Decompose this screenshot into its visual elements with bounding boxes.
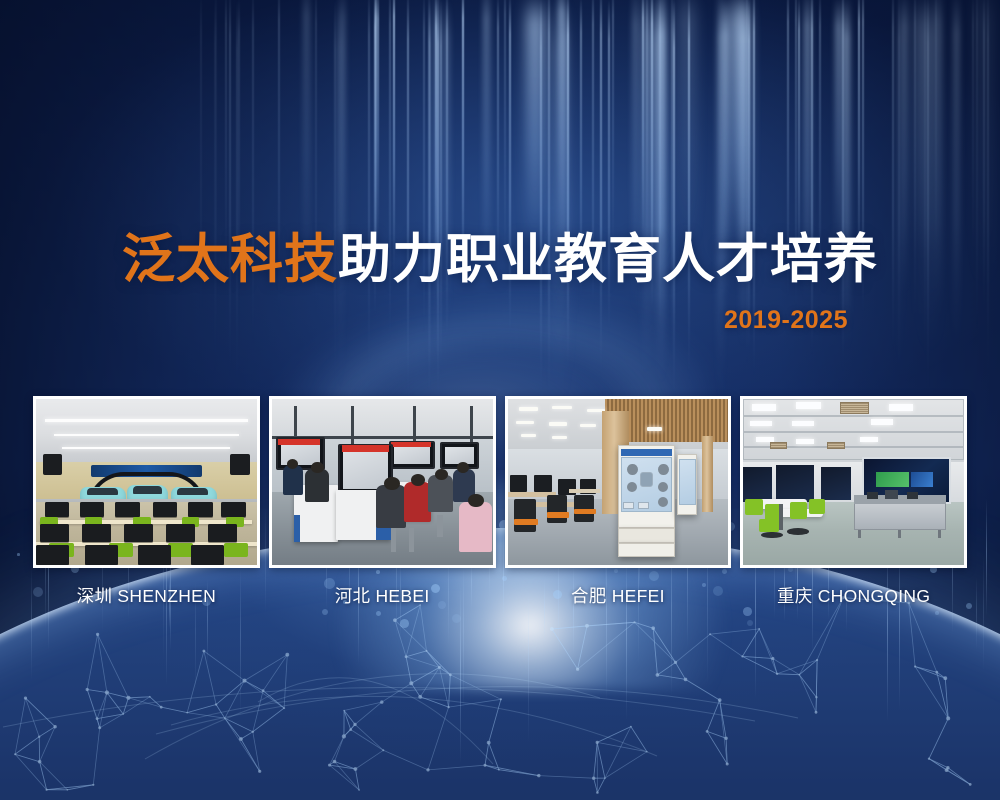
gallery-item-chongqing[interactable] [740, 396, 967, 568]
photo-chongqing [743, 399, 964, 565]
caption-row: 深圳 SHENZHEN 河北 HEBEI 合肥 HEFEI 重庆 CHONGQI… [33, 583, 967, 609]
gallery-item-hebei[interactable] [269, 396, 496, 568]
caption-chongqing: 重庆 CHONGQING [740, 583, 967, 609]
scene-smart-car-classroom [36, 399, 257, 565]
caption-shenzhen: 深圳 SHENZHEN [33, 583, 260, 609]
year-range: 2019-2025 [0, 306, 1000, 335]
brand-name: 泛太科技 [122, 230, 338, 289]
scene-training-bench-lab [272, 399, 493, 565]
scene-display-cabinet-lab [508, 399, 729, 565]
caption-hefei: 合肥 HEFEI [505, 583, 732, 609]
scene-modern-smart-lab [743, 399, 964, 565]
gallery-item-shenzhen[interactable] [33, 396, 260, 568]
gallery-item-hefei[interactable] [505, 396, 732, 568]
photo-hebei [272, 399, 493, 565]
photo-shenzhen [36, 399, 257, 565]
photo-hefei [508, 399, 729, 565]
promotional-banner: 泛太科技助力职业教育人才培养 2019-2025 [0, 0, 1000, 800]
title-tagline: 助力职业教育人才培养 [338, 230, 878, 289]
title-block: 泛太科技助力职业教育人才培养 [0, 232, 1000, 288]
caption-hebei: 河北 HEBEI [269, 583, 496, 609]
photo-gallery [33, 396, 967, 568]
page-title: 泛太科技助力职业教育人才培养 [0, 232, 1000, 288]
